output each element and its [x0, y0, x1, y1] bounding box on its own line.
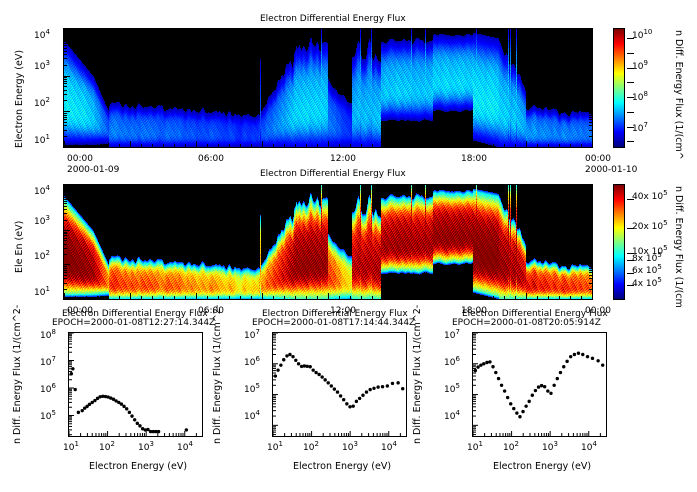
axis-tick — [361, 296, 362, 299]
colorbar-tick — [627, 68, 634, 69]
axis-tick — [589, 235, 592, 236]
data-point — [497, 377, 500, 380]
axis-tick — [589, 203, 592, 204]
spectrum-2-subtitle: EPOCH=2000-01-08T20:05:914Z — [452, 318, 601, 328]
axis-tick — [589, 90, 592, 91]
colorbar-tick — [627, 112, 634, 113]
axis-tick — [361, 144, 362, 147]
middle-colorbar[interactable] — [613, 184, 625, 300]
axis-tick — [482, 144, 483, 147]
axis-tick — [460, 185, 461, 191]
data-point — [339, 394, 342, 397]
axis-tick — [589, 266, 592, 267]
axis-tick — [75, 185, 76, 188]
data-point — [282, 358, 285, 361]
data-point — [81, 409, 84, 412]
axis-tick — [570, 185, 571, 188]
data-point — [368, 388, 371, 391]
colorbar-tick — [627, 53, 634, 54]
axis-tick — [64, 220, 67, 221]
axis-tick — [482, 29, 483, 32]
data-point — [381, 385, 384, 388]
axis-tick — [141, 144, 142, 147]
axis-tick — [471, 296, 472, 299]
top-spectrogram-plot[interactable] — [63, 28, 593, 148]
top-cbar-tick-3: 107 — [632, 124, 648, 134]
axis-tick — [64, 266, 67, 267]
axis-tick — [196, 29, 197, 35]
axis-tick — [108, 29, 109, 32]
axis-tick — [185, 29, 186, 32]
axis-tick — [75, 29, 76, 32]
data-point — [577, 352, 580, 355]
axis-tick — [262, 293, 263, 299]
axis-tick — [548, 185, 549, 188]
axis-tick — [559, 144, 560, 147]
axis-tick — [317, 185, 318, 188]
axis-tick — [64, 130, 67, 131]
spectrum-0-plot[interactable] — [68, 332, 203, 437]
axis-tick — [64, 40, 70, 41]
axis-tick — [589, 79, 592, 80]
axis-tick — [589, 238, 592, 239]
axis-tick — [383, 144, 384, 147]
axis-tick — [589, 233, 592, 234]
axis-tick — [64, 278, 67, 279]
axis-tick — [64, 230, 70, 231]
data-point — [306, 365, 309, 368]
data-point — [314, 371, 317, 374]
spectrum-1-xtick-0: 101 — [267, 443, 283, 453]
data-point — [372, 387, 375, 390]
middle-ytick-1: 101 — [34, 288, 50, 298]
spectrum-1-xtick-3: 104 — [381, 443, 397, 453]
axis-tick — [515, 144, 516, 147]
top-ytick-2: 102 — [34, 99, 50, 109]
axis-tick — [306, 296, 307, 299]
axis-tick — [240, 296, 241, 299]
axis-tick — [361, 29, 362, 32]
axis-tick — [548, 296, 549, 299]
axis-tick — [185, 296, 186, 299]
data-point — [546, 389, 549, 392]
colorbar-tick — [627, 260, 634, 261]
top-xtick-0: 00:00 — [67, 154, 93, 164]
spectrum-1-plot[interactable] — [272, 332, 407, 437]
axis-tick — [152, 296, 153, 299]
data-point — [125, 407, 128, 410]
axis-tick — [130, 141, 131, 147]
axis-tick — [174, 144, 175, 147]
data-point — [540, 384, 543, 387]
axis-tick — [589, 100, 592, 101]
axis-tick — [229, 144, 230, 147]
axis-tick — [240, 29, 241, 32]
axis-tick — [589, 113, 592, 114]
axis-tick — [306, 29, 307, 32]
axis-tick — [86, 185, 87, 188]
axis-tick — [589, 209, 592, 210]
axis-tick — [64, 65, 67, 66]
top-colorbar-canvas — [614, 29, 624, 147]
data-point — [491, 365, 494, 368]
middle-cbar-tick-1: 20x 105 — [632, 222, 668, 232]
axis-tick — [361, 185, 362, 188]
spectrum-1-ylabel: n Diff. Energy Flux (1/(cm^2- — [212, 305, 223, 444]
axis-tick — [589, 185, 592, 186]
axis-tick — [218, 185, 219, 188]
axis-tick — [64, 111, 70, 112]
axis-tick — [427, 296, 428, 299]
axis-tick — [438, 296, 439, 299]
axis-tick — [438, 29, 439, 32]
axis-tick — [152, 29, 153, 32]
data-point — [494, 371, 497, 374]
data-point — [133, 418, 136, 421]
axis-tick — [589, 232, 592, 233]
top-cbar-tick-0: 1010 — [632, 31, 652, 41]
data-point — [476, 365, 479, 368]
axis-tick — [229, 185, 230, 188]
axis-tick — [493, 144, 494, 147]
axis-tick — [515, 185, 516, 188]
axis-tick — [383, 29, 384, 32]
colorbar-tick — [627, 82, 634, 83]
data-point — [276, 368, 279, 371]
top-cbar-tick-1: 109 — [632, 62, 648, 72]
axis-tick — [339, 29, 340, 32]
middle-panel-title: Electron Differential Energy Flux — [260, 169, 406, 179]
axis-tick — [405, 29, 406, 32]
data-point — [311, 368, 314, 371]
axis-tick — [589, 54, 592, 55]
data-point — [386, 384, 389, 387]
data-point — [355, 400, 358, 403]
top-xtick-0-date: 2000-01-09 — [67, 165, 119, 175]
spectrum-0-xtick-1: 102 — [99, 443, 115, 453]
data-point — [537, 385, 540, 388]
axis-tick — [64, 29, 67, 30]
axis-tick — [119, 144, 120, 147]
axis-tick — [64, 122, 67, 123]
data-point — [336, 390, 339, 393]
axis-tick — [471, 29, 472, 32]
axis-tick — [86, 296, 87, 299]
spectrum-0-ytick-1: 107 — [40, 358, 56, 368]
axis-tick — [350, 296, 351, 299]
axis-tick — [130, 293, 131, 299]
axis-tick — [64, 83, 67, 84]
axis-tick — [97, 296, 98, 299]
spectrum-1-xtick-2: 103 — [342, 443, 358, 453]
data-point — [365, 390, 368, 393]
data-point — [297, 362, 300, 365]
spectrum-0-ytick-2: 106 — [40, 385, 56, 395]
axis-tick — [64, 268, 67, 269]
data-point — [482, 362, 485, 365]
axis-tick — [589, 254, 592, 255]
top-colorbar[interactable] — [613, 28, 625, 148]
axis-tick — [460, 29, 461, 35]
axis-tick — [427, 185, 428, 188]
axis-tick — [493, 296, 494, 299]
axis-tick — [163, 144, 164, 147]
data-point — [317, 373, 320, 376]
axis-tick — [416, 144, 417, 147]
axis-tick — [64, 136, 67, 137]
axis-tick — [130, 185, 131, 191]
axis-tick — [64, 283, 67, 284]
axis-tick — [586, 147, 592, 148]
axis-tick — [589, 51, 592, 52]
axis-tick — [64, 185, 67, 186]
axis-tick — [589, 213, 592, 214]
top-ytick-4: 104 — [34, 31, 50, 41]
axis-tick — [64, 264, 70, 265]
axis-tick — [64, 79, 67, 80]
axis-tick — [493, 29, 494, 32]
axis-tick — [251, 296, 252, 299]
axis-tick — [97, 29, 98, 32]
spectrum-2-xtick-0: 101 — [467, 443, 483, 453]
spectrum-2-plot[interactable] — [472, 332, 607, 437]
axis-tick — [64, 43, 67, 44]
spectrum-1-ytick-2: 105 — [244, 385, 260, 395]
colorbar-tick — [627, 199, 634, 200]
axis-tick — [119, 185, 120, 188]
axis-tick — [589, 29, 592, 30]
data-point — [549, 392, 552, 395]
axis-tick — [75, 296, 76, 299]
data-point — [396, 381, 399, 384]
axis-tick — [537, 29, 538, 32]
middle-cbar-tick-0: 40x 105 — [632, 192, 668, 202]
middle-spectrogram-plot[interactable] — [63, 184, 593, 300]
top-xtick-1: 06:00 — [198, 154, 224, 164]
axis-tick — [416, 296, 417, 299]
middle-cbar-tick-5: 4x 105 — [632, 279, 662, 289]
data-point — [527, 400, 530, 403]
axis-tick — [152, 144, 153, 147]
axis-tick — [64, 115, 67, 116]
axis-tick — [589, 220, 592, 221]
axis-tick — [185, 144, 186, 147]
axis-tick — [350, 185, 351, 188]
axis-tick — [64, 233, 67, 234]
axis-tick — [586, 230, 592, 231]
axis-tick — [589, 115, 592, 116]
axis-tick — [482, 296, 483, 299]
axis-tick — [251, 144, 252, 147]
spectrum-0-xtick-2: 103 — [138, 443, 154, 453]
axis-tick — [218, 144, 219, 147]
data-point — [88, 403, 91, 406]
spectrum-1-subtitle: EPOCH=2000-01-08T17:14:44.344Z — [252, 318, 415, 328]
axis-tick — [526, 185, 527, 191]
spectrum-0-xlabel: Electron Energy (eV) — [89, 461, 187, 472]
axis-tick — [526, 293, 527, 299]
data-point — [308, 365, 311, 368]
middle-cbar-tick-4: 6x 105 — [632, 266, 662, 276]
data-point — [534, 389, 537, 392]
axis-tick — [394, 293, 395, 299]
axis-tick — [64, 81, 67, 82]
top-xtick-3: 18:00 — [461, 154, 487, 164]
axis-tick — [64, 41, 67, 42]
axis-tick — [229, 296, 230, 299]
data-point — [559, 371, 562, 374]
axis-tick — [449, 29, 450, 32]
data-point — [330, 384, 333, 387]
data-point — [521, 410, 524, 413]
spectrum-1-xlabel: Electron Energy (eV) — [293, 461, 391, 472]
axis-tick — [64, 45, 67, 46]
axis-tick — [64, 289, 67, 290]
spectrum-2-ytick-2: 105 — [444, 385, 460, 395]
axis-tick — [471, 144, 472, 147]
axis-tick — [152, 185, 153, 188]
axis-tick — [130, 29, 131, 35]
axis-tick — [581, 296, 582, 299]
axis-tick — [64, 77, 67, 78]
colorbar-tick — [627, 141, 634, 142]
axis-tick — [589, 130, 592, 131]
spectrum-0-subtitle: EPOCH=2000-01-08T12:27:14.344Z — [52, 318, 215, 328]
axis-tick — [108, 185, 109, 188]
data-point — [77, 411, 80, 414]
data-point — [562, 365, 565, 368]
data-point — [565, 360, 568, 363]
axis-tick — [589, 117, 592, 118]
axis-tick — [372, 29, 373, 32]
axis-tick — [350, 29, 351, 32]
axis-tick — [460, 293, 461, 299]
data-point — [485, 361, 488, 364]
axis-tick — [589, 125, 592, 126]
axis-tick — [581, 144, 582, 147]
axis-tick — [174, 185, 175, 188]
axis-tick — [570, 144, 571, 147]
axis-tick — [586, 76, 592, 77]
axis-tick — [97, 185, 98, 188]
axis-tick — [548, 144, 549, 147]
axis-tick — [559, 29, 560, 32]
top-xtick-2: 12:00 — [330, 154, 356, 164]
spectrum-2-ytick-0: 107 — [444, 331, 460, 341]
axis-tick — [64, 117, 67, 118]
data-point — [327, 381, 330, 384]
axis-tick — [196, 185, 197, 191]
spectrum-1-xtick-1: 102 — [303, 443, 319, 453]
axis-tick — [64, 244, 67, 245]
axis-tick — [592, 29, 593, 35]
data-point — [294, 359, 297, 362]
axis-tick — [589, 94, 592, 95]
middle-colorbar-canvas — [614, 185, 624, 299]
axis-tick — [589, 136, 592, 137]
axis-tick — [64, 209, 67, 210]
axis-tick — [504, 29, 505, 32]
axis-tick — [240, 144, 241, 147]
axis-tick — [504, 296, 505, 299]
top-ytick-1: 101 — [34, 136, 50, 146]
data-point — [524, 404, 527, 407]
spectrum-1-ytick-3: 104 — [244, 412, 260, 422]
spectrum-1-ytick-0: 107 — [244, 331, 260, 341]
data-point — [601, 363, 604, 366]
axis-tick — [548, 29, 549, 32]
top-spectrogram-canvas — [64, 29, 592, 147]
axis-tick — [328, 293, 329, 299]
spectrum-0-xtick-3: 104 — [177, 443, 193, 453]
axis-tick — [64, 147, 70, 148]
axis-tick — [586, 111, 592, 112]
axis-tick — [306, 144, 307, 147]
axis-tick — [174, 296, 175, 299]
data-point — [74, 388, 77, 391]
axis-tick — [471, 185, 472, 188]
axis-tick — [119, 296, 120, 299]
data-point — [531, 394, 534, 397]
data-point — [288, 353, 291, 356]
data-point — [348, 405, 351, 408]
top-cbar-tick-2: 108 — [632, 93, 648, 103]
axis-tick — [108, 144, 109, 147]
colorbar-tick — [627, 127, 634, 128]
axis-tick — [589, 201, 592, 202]
axis-tick — [64, 275, 67, 276]
axis-tick — [207, 296, 208, 299]
axis-tick — [383, 296, 384, 299]
axis-tick — [339, 185, 340, 188]
spectrum-2-ylabel: n Diff. Energy Flux (1/(cm^2- — [412, 305, 423, 444]
axis-tick — [589, 41, 592, 42]
axis-tick — [86, 29, 87, 32]
axis-tick — [515, 296, 516, 299]
middle-ytick-4: 104 — [34, 187, 50, 197]
axis-tick — [405, 185, 406, 188]
axis-tick — [394, 185, 395, 191]
axis-tick — [589, 65, 592, 66]
spectrum-1-svg — [273, 333, 406, 436]
axis-tick — [196, 293, 197, 299]
data-point — [323, 378, 326, 381]
axis-tick — [64, 254, 67, 255]
axis-tick — [64, 203, 67, 204]
axis-tick — [586, 264, 592, 265]
data-point — [488, 360, 491, 363]
axis-tick — [589, 45, 592, 46]
axis-tick — [196, 141, 197, 147]
axis-tick — [295, 185, 296, 188]
data-point — [333, 387, 336, 390]
axis-tick — [438, 185, 439, 188]
axis-tick — [284, 29, 285, 32]
axis-tick — [589, 270, 592, 271]
axis-tick — [262, 29, 263, 35]
top-xtick-4: 00:00 — [585, 154, 611, 164]
axis-tick — [163, 29, 164, 32]
axis-tick — [64, 54, 67, 55]
data-point — [586, 355, 589, 358]
axis-tick — [589, 48, 592, 49]
axis-tick — [273, 296, 274, 299]
axis-tick — [537, 144, 538, 147]
axis-tick — [295, 29, 296, 32]
axis-tick — [328, 185, 329, 191]
axis-tick — [589, 240, 592, 241]
axis-tick — [64, 51, 67, 52]
